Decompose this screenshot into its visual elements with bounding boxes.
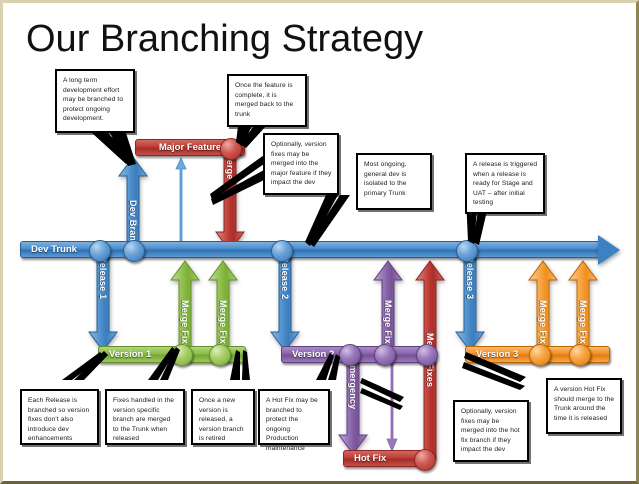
knob-v3-merge-fixes-b [569,344,591,366]
callout-each-release: Each Release is branched so version fixe… [20,389,99,445]
callout-feature-merged: Once the feature is complete, it is merg… [227,74,307,127]
arrow-merge-fixes-v3-a: Merge Fixes [528,260,558,354]
bar-label: Version 1 [109,349,151,360]
callout-hotfix-branch: A Hot Fix may be branched to protect the… [258,389,330,445]
callout-optional-major: Optionally, version fixes may be merged … [263,133,339,195]
bar-label: Version 3 [476,349,518,360]
callout-fixes-handled: Fixes handled in the version specific br… [105,389,185,445]
bar-label: Dev Trunk [31,244,77,255]
callout-release-trigger: A release is triggered when a release is… [465,153,545,214]
arrow-dev-branch: Dev Branch [118,156,148,252]
knob-v2-merge-fixes [374,344,396,366]
arrow-thin-blue [175,157,187,252]
arrow-merge-fixes-v1-a: Merge Fixes [170,260,200,354]
knob-trunk-release-2 [271,240,293,262]
knob-v1-merge-fixes-a [171,344,193,366]
callout-ongoing-dev: Most ongoing, general dev is isolated to… [356,153,432,210]
arrow-merge: Merge [215,148,245,252]
arrow-merge-fixes-v1-b: Merge Fixes [208,260,238,354]
callout-long-term-dev: A long term development effort may be br… [55,69,135,133]
knob-v2-merge-fixes-red [416,344,438,366]
callout-optional-hotfix: Optionally, version fixes may be merged … [453,400,529,462]
bar-label: Hot Fix [354,453,386,464]
callout-version-retired: Once a new version is released, a versio… [191,389,255,445]
arrow-release-2: Release 2 [270,252,300,352]
diagram-canvas: Our Branching Strategy [0,0,639,484]
arrow-release-1: Release 1 [88,252,118,352]
knob-hotfix-merge [414,449,436,471]
knob-trunk-release-3 [456,240,478,262]
trunk-arrowhead-icon [598,235,620,265]
callout-hotfix-merge: A version Hot Fix should merge to the Tr… [546,378,622,434]
page-title: Our Branching Strategy [26,17,423,61]
arrow-emergency: Emergency [338,355,368,455]
bar-label: Major Feature [159,142,221,153]
knob-v3-merge-fixes-a [529,344,551,366]
bar-label: Version 2 [292,349,334,360]
arrow-merge-fixes-v2: Merge Fixes [373,260,403,354]
arrow-release-3: Release 3 [455,252,485,352]
knob-trunk-feature-start [123,240,145,262]
arrow-thin-purple [386,356,398,452]
knob-v1-merge-fixes-b [209,344,231,366]
arrow-merge-fixes-v3-b: Merge Fixes [568,260,598,354]
knob-major-feature-merge [220,138,242,160]
knob-trunk-dev-branch [89,240,111,262]
knob-v2-emergency [339,344,361,366]
